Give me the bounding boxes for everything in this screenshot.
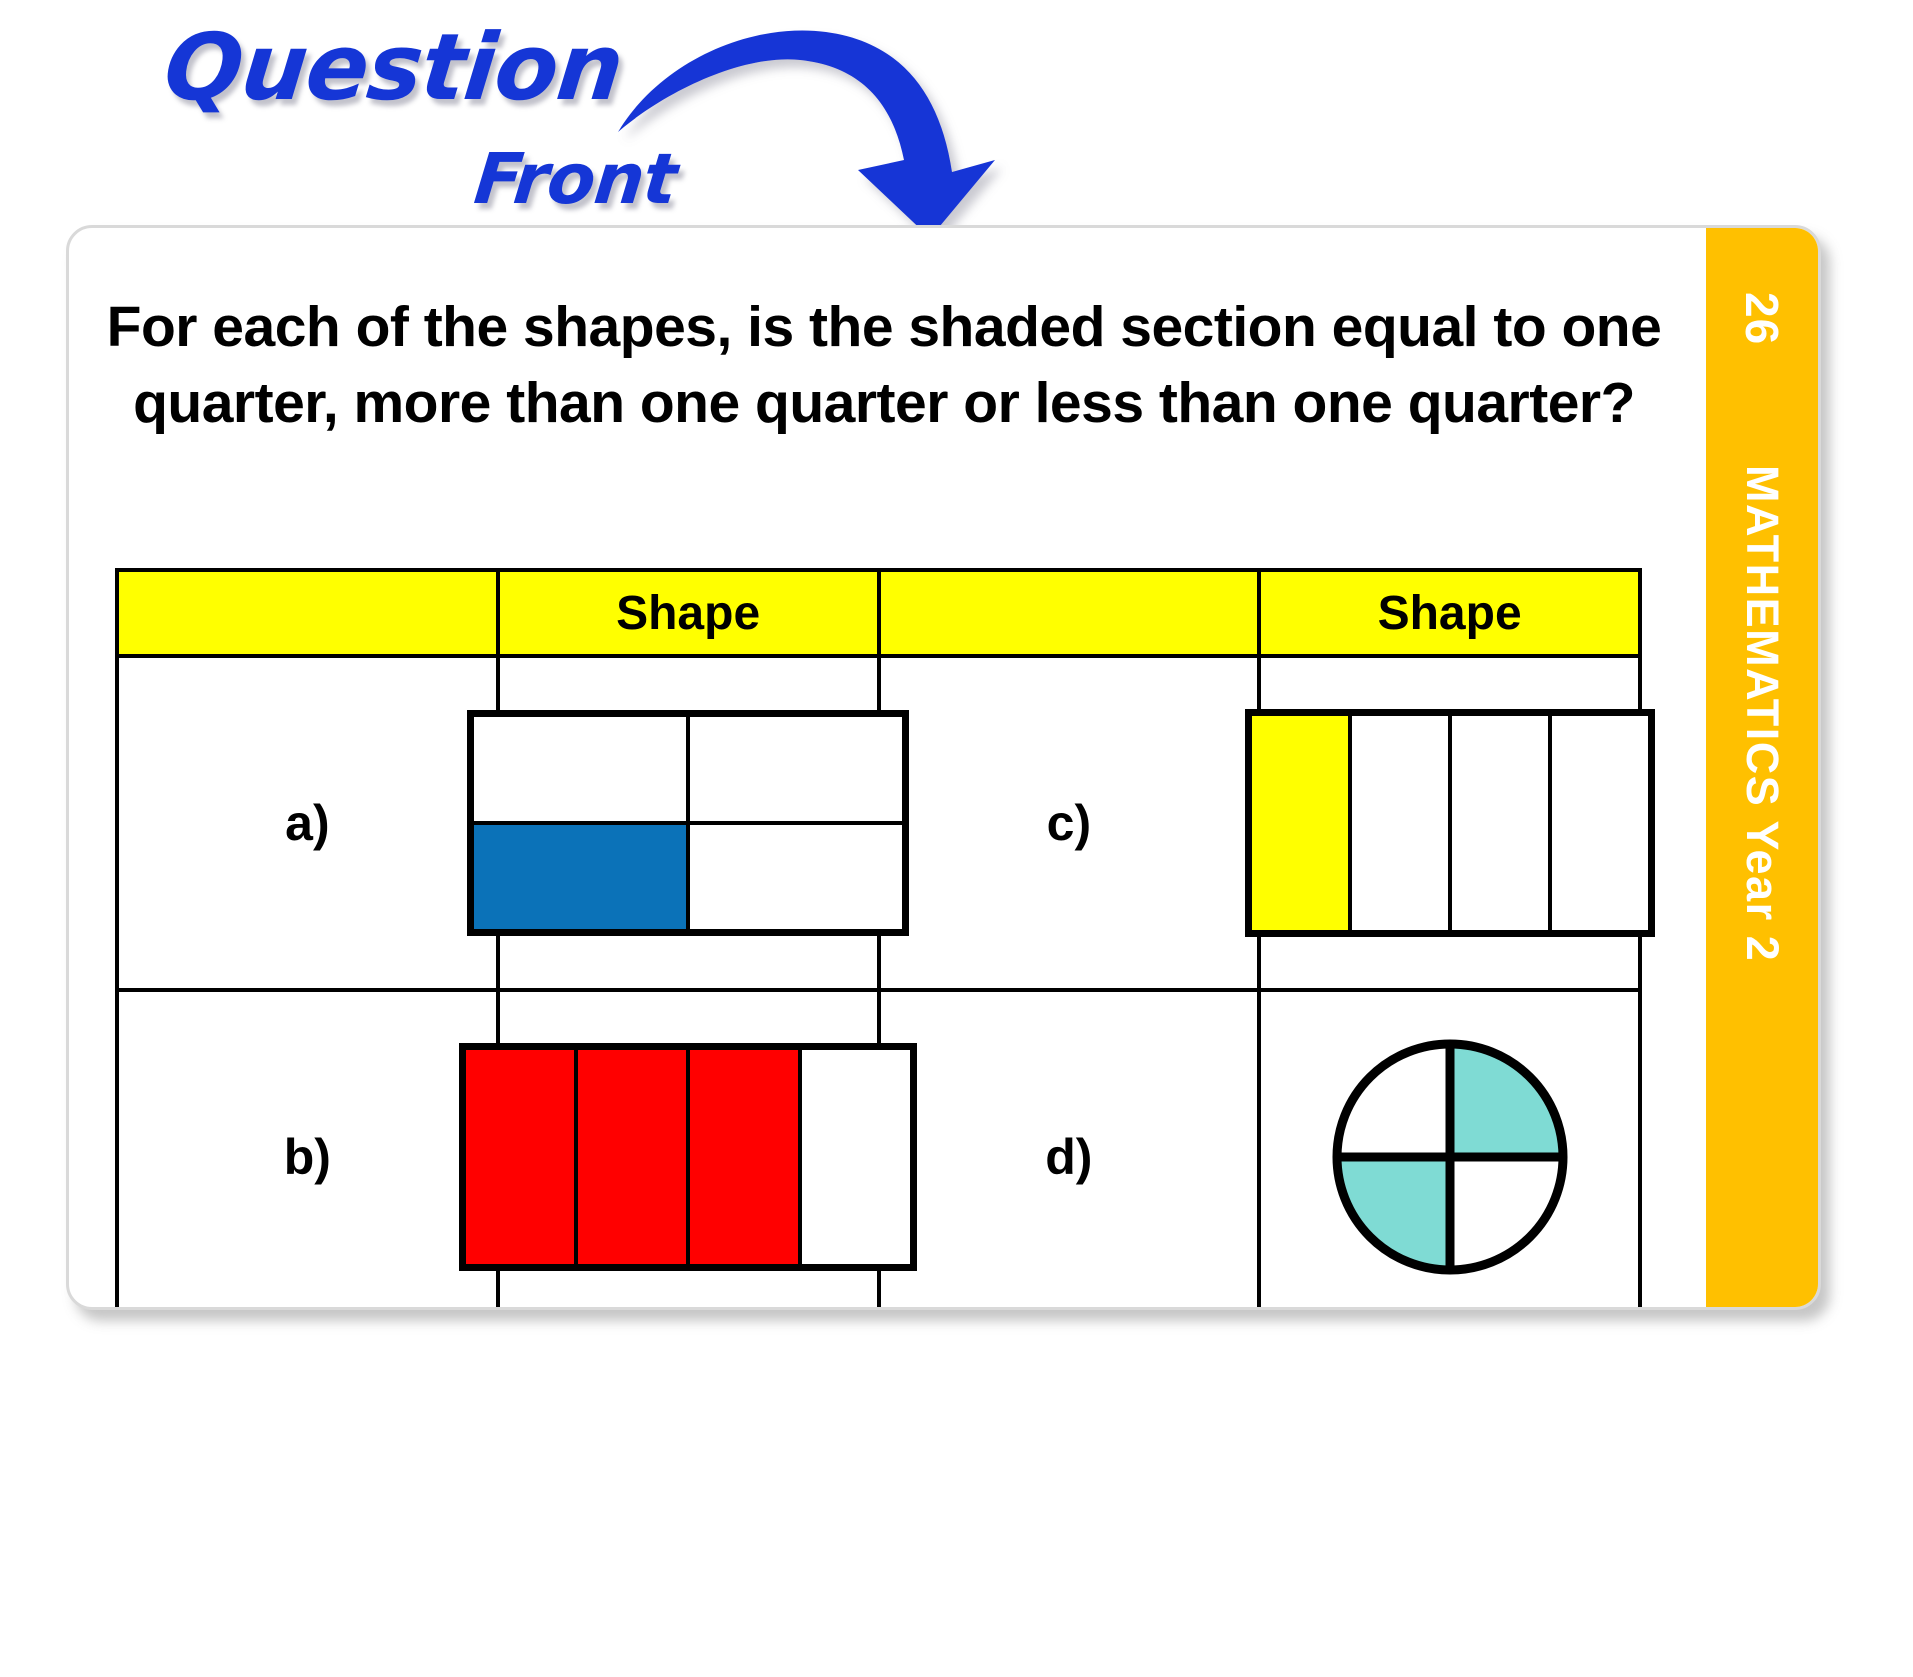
shape-b-cell-1-shaded xyxy=(574,1046,690,1268)
shape-c-cell-1 xyxy=(1348,712,1452,934)
header-blank-left xyxy=(117,570,498,656)
header-shape-left: Shape xyxy=(498,570,879,656)
shape-c-cell-3 xyxy=(1548,712,1652,934)
shape-cell-b xyxy=(498,990,879,1310)
header-blank-right xyxy=(879,570,1260,656)
annotation-group: Question Front xyxy=(0,0,1200,260)
table-row: a) c) xyxy=(117,656,1640,990)
flashcard: For each of the shapes, is the shaded se… xyxy=(66,225,1821,1310)
shape-a-cell-0 xyxy=(470,713,690,825)
item-label-b: b) xyxy=(117,990,498,1310)
item-label-c: c) xyxy=(879,656,1260,990)
shape-c-strip xyxy=(1245,709,1655,937)
table-row: b) d) xyxy=(117,990,1640,1310)
item-label-d: d) xyxy=(879,990,1260,1310)
card-number: 26 xyxy=(1735,292,1789,345)
shape-a-grid xyxy=(467,710,909,936)
curved-down-arrow-icon xyxy=(600,20,1060,240)
shape-a-cell-1 xyxy=(686,713,906,825)
shape-b-strip xyxy=(459,1043,917,1271)
shape-d-circle xyxy=(1325,1032,1575,1282)
shape-cell-c xyxy=(1259,656,1640,990)
shapes-table: Shape Shape a) c) xyxy=(115,568,1642,1310)
card-content: For each of the shapes, is the shaded se… xyxy=(69,228,1706,1307)
item-label-a: a) xyxy=(117,656,498,990)
subject-rail: 26 MATHEMATICS Year 2 xyxy=(1706,228,1818,1307)
shape-b-cell-0-shaded xyxy=(462,1046,578,1268)
shape-b-cell-2-shaded xyxy=(686,1046,802,1268)
shape-cell-a xyxy=(498,656,879,990)
shape-c-cell-0-shaded xyxy=(1248,712,1352,934)
shape-c-cell-2 xyxy=(1448,712,1552,934)
shape-a-cell-3 xyxy=(686,821,906,933)
shape-b-cell-3 xyxy=(798,1046,914,1268)
question-annotation-label: Question xyxy=(159,14,627,121)
shape-a-cell-2-shaded xyxy=(470,821,690,933)
question-prompt: For each of the shapes, is the shaded se… xyxy=(99,290,1669,442)
shape-cell-d xyxy=(1259,990,1640,1310)
table-header-row: Shape Shape xyxy=(117,570,1640,656)
subject-label: MATHEMATICS Year 2 xyxy=(1736,465,1788,962)
header-shape-right: Shape xyxy=(1259,570,1640,656)
